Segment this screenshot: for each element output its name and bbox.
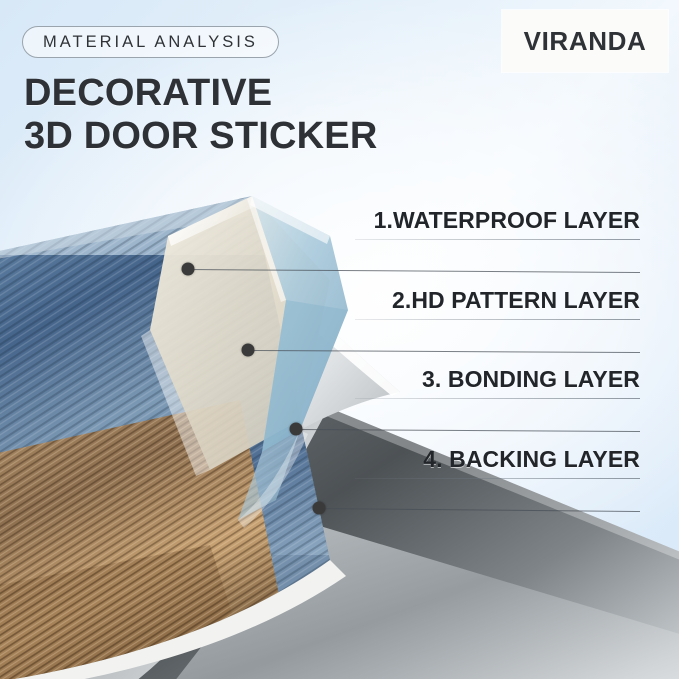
page-title: DECORATIVE 3D DOOR STICKER xyxy=(24,72,377,158)
callout-label: 3. BONDING LAYER xyxy=(422,366,640,393)
callout-dot xyxy=(313,502,326,515)
callout-underline xyxy=(355,239,640,240)
callout-label: 2.HD PATTERN LAYER xyxy=(392,287,640,314)
callout-dot xyxy=(290,423,303,436)
callout-dot xyxy=(182,263,195,276)
callout-dot xyxy=(242,344,255,357)
brand-logo: VIRANDA xyxy=(502,10,668,72)
title-line-2: 3D DOOR STICKER xyxy=(24,115,377,158)
title-line-1: DECORATIVE xyxy=(24,72,272,114)
brand-name: VIRANDA xyxy=(524,26,647,57)
callout-label: 1.WATERPROOF LAYER xyxy=(374,207,640,234)
eyebrow-badge: MATERIAL ANALYSIS xyxy=(22,26,279,58)
callout-label: 4. BACKING LAYER xyxy=(423,446,640,473)
callout-underline xyxy=(355,398,640,399)
poster-canvas: MATERIAL ANALYSIS DECORATIVE 3D DOOR STI… xyxy=(0,0,679,679)
callout-underline xyxy=(355,319,640,320)
eyebrow-text: MATERIAL ANALYSIS xyxy=(43,33,258,52)
callout-underline xyxy=(355,478,640,479)
